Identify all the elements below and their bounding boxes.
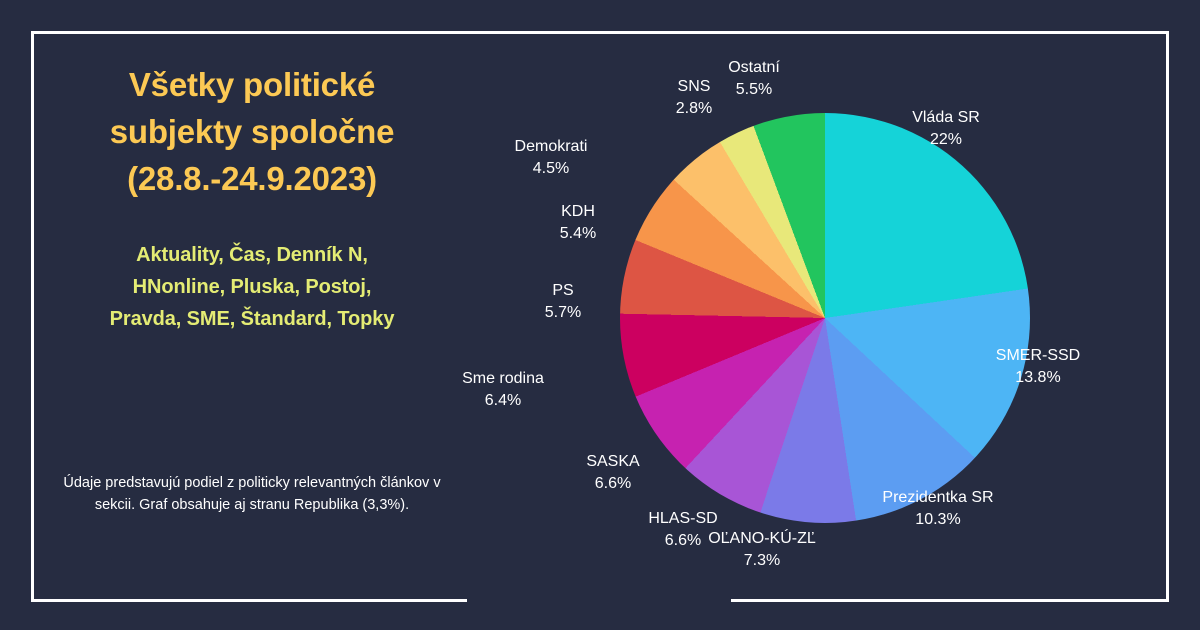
page-title-line-3: (28.8.-24.9.2023)	[52, 156, 452, 203]
sources-list: Aktuality, Čas, Denník N, HNonline, Plus…	[52, 239, 452, 336]
pie-slice-label: Demokrati4.5%	[515, 136, 588, 179]
pie-slice-label-name: SMER-SSD	[996, 347, 1080, 364]
pie-slice-label-value: 22%	[912, 129, 980, 151]
pie-slice-label-name: Demokrati	[515, 138, 588, 155]
pie-slice-label-name: Ostatní	[728, 59, 780, 76]
pie-slice-label: PS5.7%	[545, 280, 581, 323]
pie-slice-label-value: 6.4%	[462, 390, 544, 412]
page-title-line-1: Všetky politické	[52, 62, 452, 109]
pie-slice-label-value: 4.5%	[515, 158, 588, 180]
page-title-line-2: subjekty spoločne	[52, 109, 452, 156]
pie-slice-label-name: SNS	[678, 78, 711, 95]
pie-slice-label-value: 5.5%	[728, 79, 780, 101]
page-title: Všetky politické subjekty spoločne (28.8…	[52, 62, 452, 203]
pie-slice-label-value: 2.8%	[676, 98, 712, 120]
frame-bottom-left-rule	[31, 599, 467, 602]
pie-slice-label-value: 10.3%	[882, 509, 993, 531]
pie-slice-label: HLAS-SD6.6%	[648, 508, 717, 551]
pie-slice-label-value: 7.3%	[708, 550, 816, 572]
pie-slice-label: Ostatní5.5%	[728, 57, 780, 100]
pie-slice-label-value: 5.4%	[560, 223, 596, 245]
pie-slice-label-name: Vláda SR	[912, 109, 980, 126]
pie-slice-label: Sme rodina6.4%	[462, 368, 544, 411]
pie-slice-label-value: 13.8%	[996, 367, 1080, 389]
infographic-canvas: Všetky politické subjekty spoločne (28.8…	[0, 0, 1200, 630]
pie-slice-label: OĽANO-KÚ-ZĽ7.3%	[708, 528, 816, 571]
pie-slice-label-value: 6.6%	[586, 473, 639, 495]
pie-slice-label-name: SASKA	[586, 453, 639, 470]
pie-slice-label: SNS2.8%	[676, 76, 712, 119]
pie-slice-label: Prezidentka SR10.3%	[882, 487, 993, 530]
pie-slice-label-name: HLAS-SD	[648, 510, 717, 527]
pie-chart	[620, 113, 1030, 523]
pie-slice-label: KDH5.4%	[560, 201, 596, 244]
pie-slice-label-value: 6.6%	[648, 530, 717, 552]
sources-line-1: Aktuality, Čas, Denník N,	[52, 239, 452, 271]
pie-slice-label-name: OĽANO-KÚ-ZĽ	[708, 530, 816, 547]
frame-bottom-right-rule	[731, 599, 1169, 602]
pie-slice-label-value: 5.7%	[545, 302, 581, 324]
pie-slice-label: SMER-SSD13.8%	[996, 345, 1080, 388]
pie-slice-label: SASKA6.6%	[586, 451, 639, 494]
frame-right-rule	[1166, 31, 1169, 602]
left-text-column: Všetky politické subjekty spoločne (28.8…	[52, 52, 452, 572]
frame-left-rule	[31, 31, 34, 602]
pie-slice-label-name: Sme rodina	[462, 370, 544, 387]
pie-slice-label-name: PS	[552, 282, 573, 299]
footnote: Údaje predstavujú podiel z politicky rel…	[52, 472, 452, 516]
sources-line-2: HNonline, Pluska, Postoj,	[52, 271, 452, 303]
sources-line-3: Pravda, SME, Štandard, Topky	[52, 303, 452, 335]
frame-top-rule	[31, 31, 1169, 34]
pie-slice-label-name: KDH	[561, 203, 595, 220]
pie-slice-label: Vláda SR22%	[912, 107, 980, 150]
pie-disc	[620, 113, 1030, 523]
pie-slice-label-name: Prezidentka SR	[882, 489, 993, 506]
